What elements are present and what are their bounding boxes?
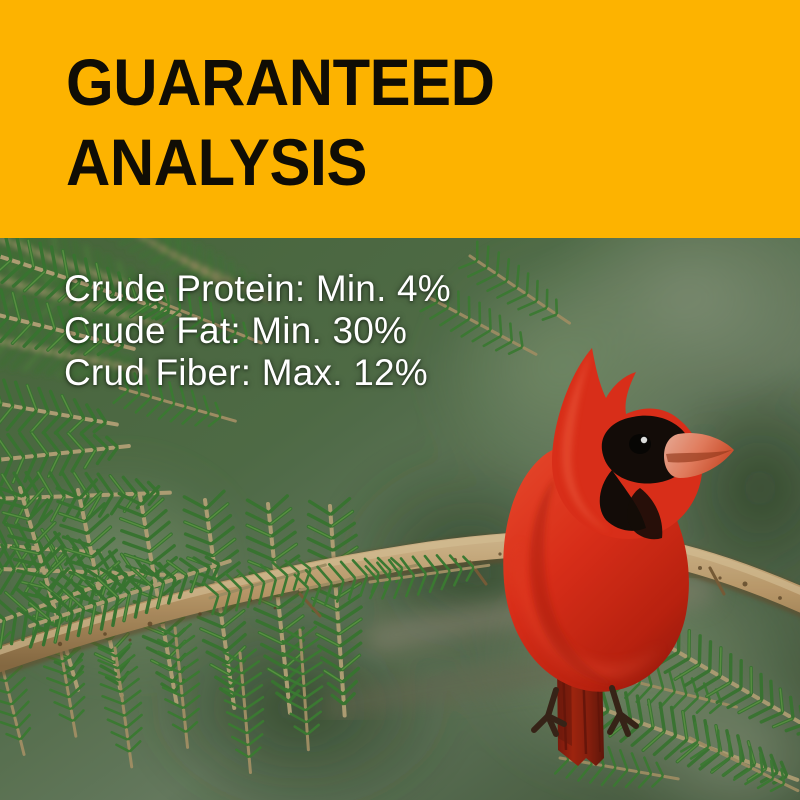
page-title: GUARANTEED ANALYSIS — [66, 42, 717, 202]
analysis-line-fiber: Crud Fiber: Max. 12% — [64, 352, 451, 394]
guaranteed-analysis-list: Crude Protein: Min. 4% Crude Fat: Min. 3… — [64, 268, 451, 394]
product-label-panel: GUARANTEED ANALYSIS Crude Protein: Min. … — [0, 0, 800, 800]
analysis-line-fat: Crude Fat: Min. 30% — [64, 310, 451, 352]
header-band: GUARANTEED ANALYSIS — [0, 0, 800, 238]
analysis-line-protein: Crude Protein: Min. 4% — [64, 268, 451, 310]
